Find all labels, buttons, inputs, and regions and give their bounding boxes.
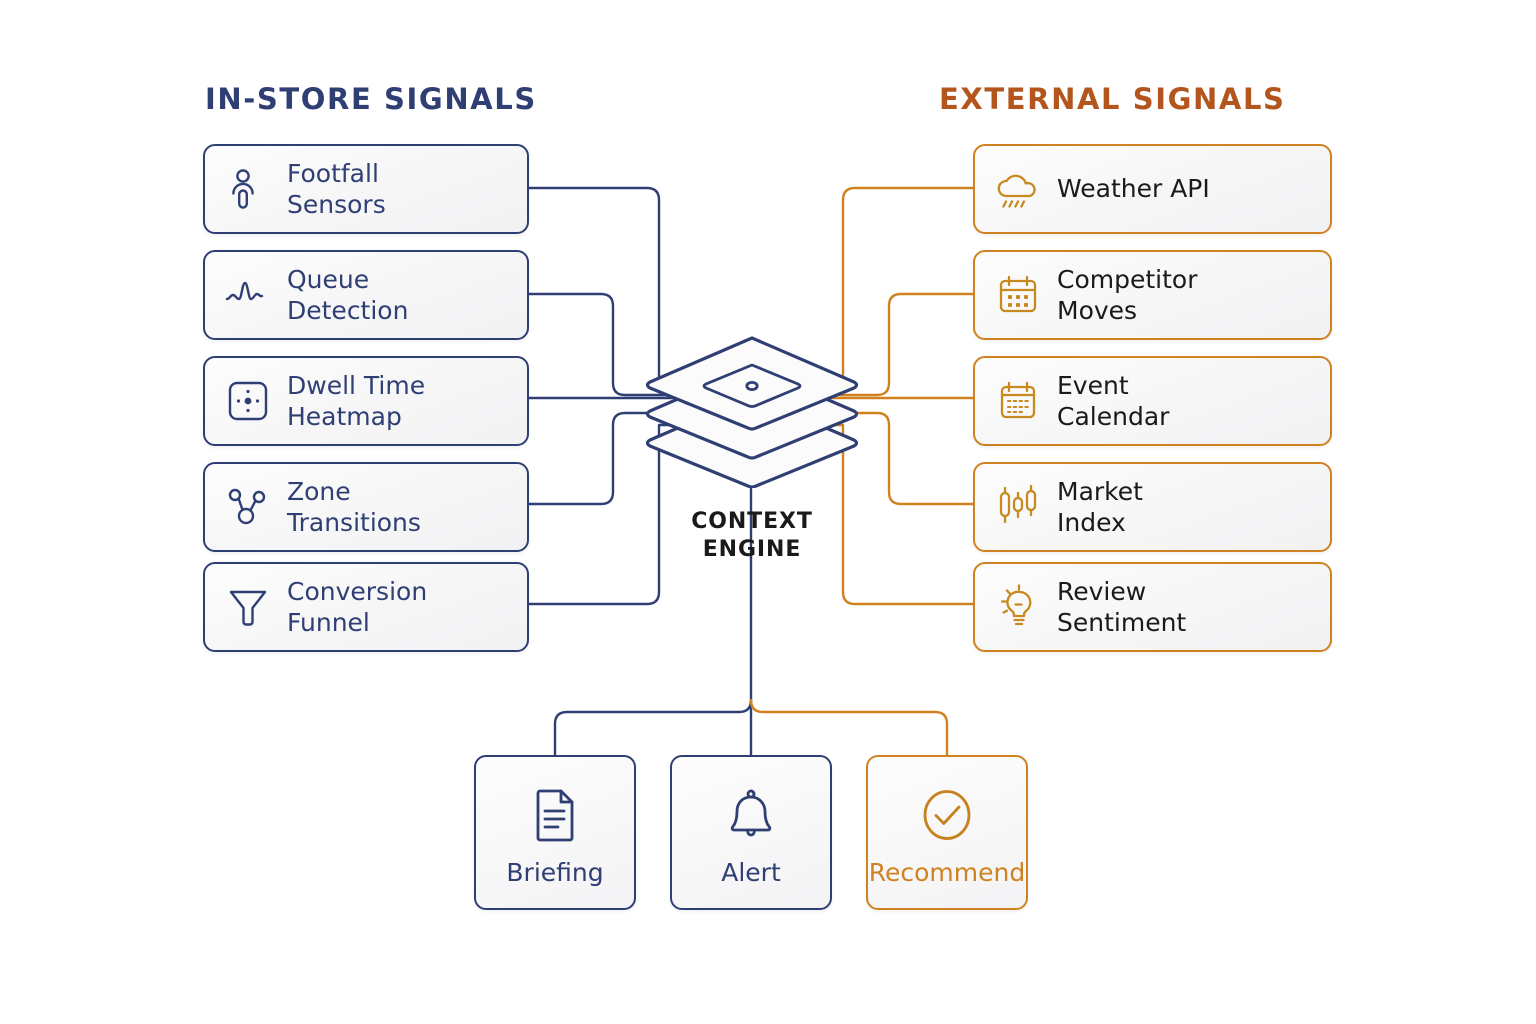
external-signals-heading: EXTERNAL SIGNALS: [939, 82, 1286, 116]
context-engine-caption: CONTEXT ENGINE: [640, 508, 864, 564]
signal-card-label: Zone Transitions: [287, 476, 421, 539]
output-card-label: Alert: [721, 858, 781, 887]
signal-card-label: Competitor Moves: [1057, 264, 1197, 327]
signal-card-market-index[interactable]: Market Index: [973, 462, 1332, 552]
candlestick-icon: [989, 484, 1047, 530]
signal-card-dwell-time-heatmap[interactable]: Dwell Time Heatmap: [203, 356, 529, 446]
signal-card-label: Market Index: [1057, 476, 1143, 539]
signal-card-zone-transitions[interactable]: Zone Transitions: [203, 462, 529, 552]
layered-stack-icon: [640, 318, 864, 488]
in-store-signals-heading: IN-STORE SIGNALS: [205, 82, 537, 116]
funnel-icon: [219, 584, 277, 630]
wire-out-briefing: [555, 700, 751, 755]
context-engine-node[interactable]: [640, 318, 864, 488]
signal-card-competitor-moves[interactable]: Competitor Moves: [973, 250, 1332, 340]
signal-card-weather-api[interactable]: Weather API: [973, 144, 1332, 234]
calendar-filled-icon: [989, 272, 1047, 318]
signal-card-label: Dwell Time Heatmap: [287, 370, 425, 433]
output-card-label: Recommend: [869, 858, 1025, 887]
node-graph-icon: [219, 484, 277, 530]
person-sensor-icon: [219, 166, 277, 212]
output-card-briefing[interactable]: Briefing: [474, 755, 636, 910]
signal-card-label: Conversion Funnel: [287, 576, 427, 639]
signal-card-footfall-sensors[interactable]: Footfall Sensors: [203, 144, 529, 234]
signal-card-label: Weather API: [1057, 173, 1210, 205]
signal-card-label: Review Sentiment: [1057, 576, 1186, 639]
output-card-alert[interactable]: Alert: [670, 755, 832, 910]
waveform-icon: [219, 272, 277, 318]
diagram-canvas: IN-STORE SIGNALS EXTERNAL SIGNALS Footfa…: [0, 0, 1536, 1024]
calendar-outline-icon: [989, 378, 1047, 424]
signal-card-label: Footfall Sensors: [287, 158, 386, 221]
check-circle-icon: [916, 778, 978, 852]
rain-cloud-icon: [989, 166, 1047, 212]
signal-card-label: Queue Detection: [287, 264, 408, 327]
bell-icon: [720, 778, 782, 852]
wire-out-recommend: [751, 700, 947, 755]
signal-card-conversion-funnel[interactable]: Conversion Funnel: [203, 562, 529, 652]
lightbulb-icon: [989, 584, 1047, 630]
output-card-recommend[interactable]: Recommend: [866, 755, 1028, 910]
output-card-label: Briefing: [506, 858, 603, 887]
document-icon: [524, 778, 586, 852]
signal-card-label: Event Calendar: [1057, 370, 1169, 433]
signal-card-event-calendar[interactable]: Event Calendar: [973, 356, 1332, 446]
signal-card-queue-detection[interactable]: Queue Detection: [203, 250, 529, 340]
signal-card-review-sentiment[interactable]: Review Sentiment: [973, 562, 1332, 652]
heatmap-dots-icon: [219, 378, 277, 424]
